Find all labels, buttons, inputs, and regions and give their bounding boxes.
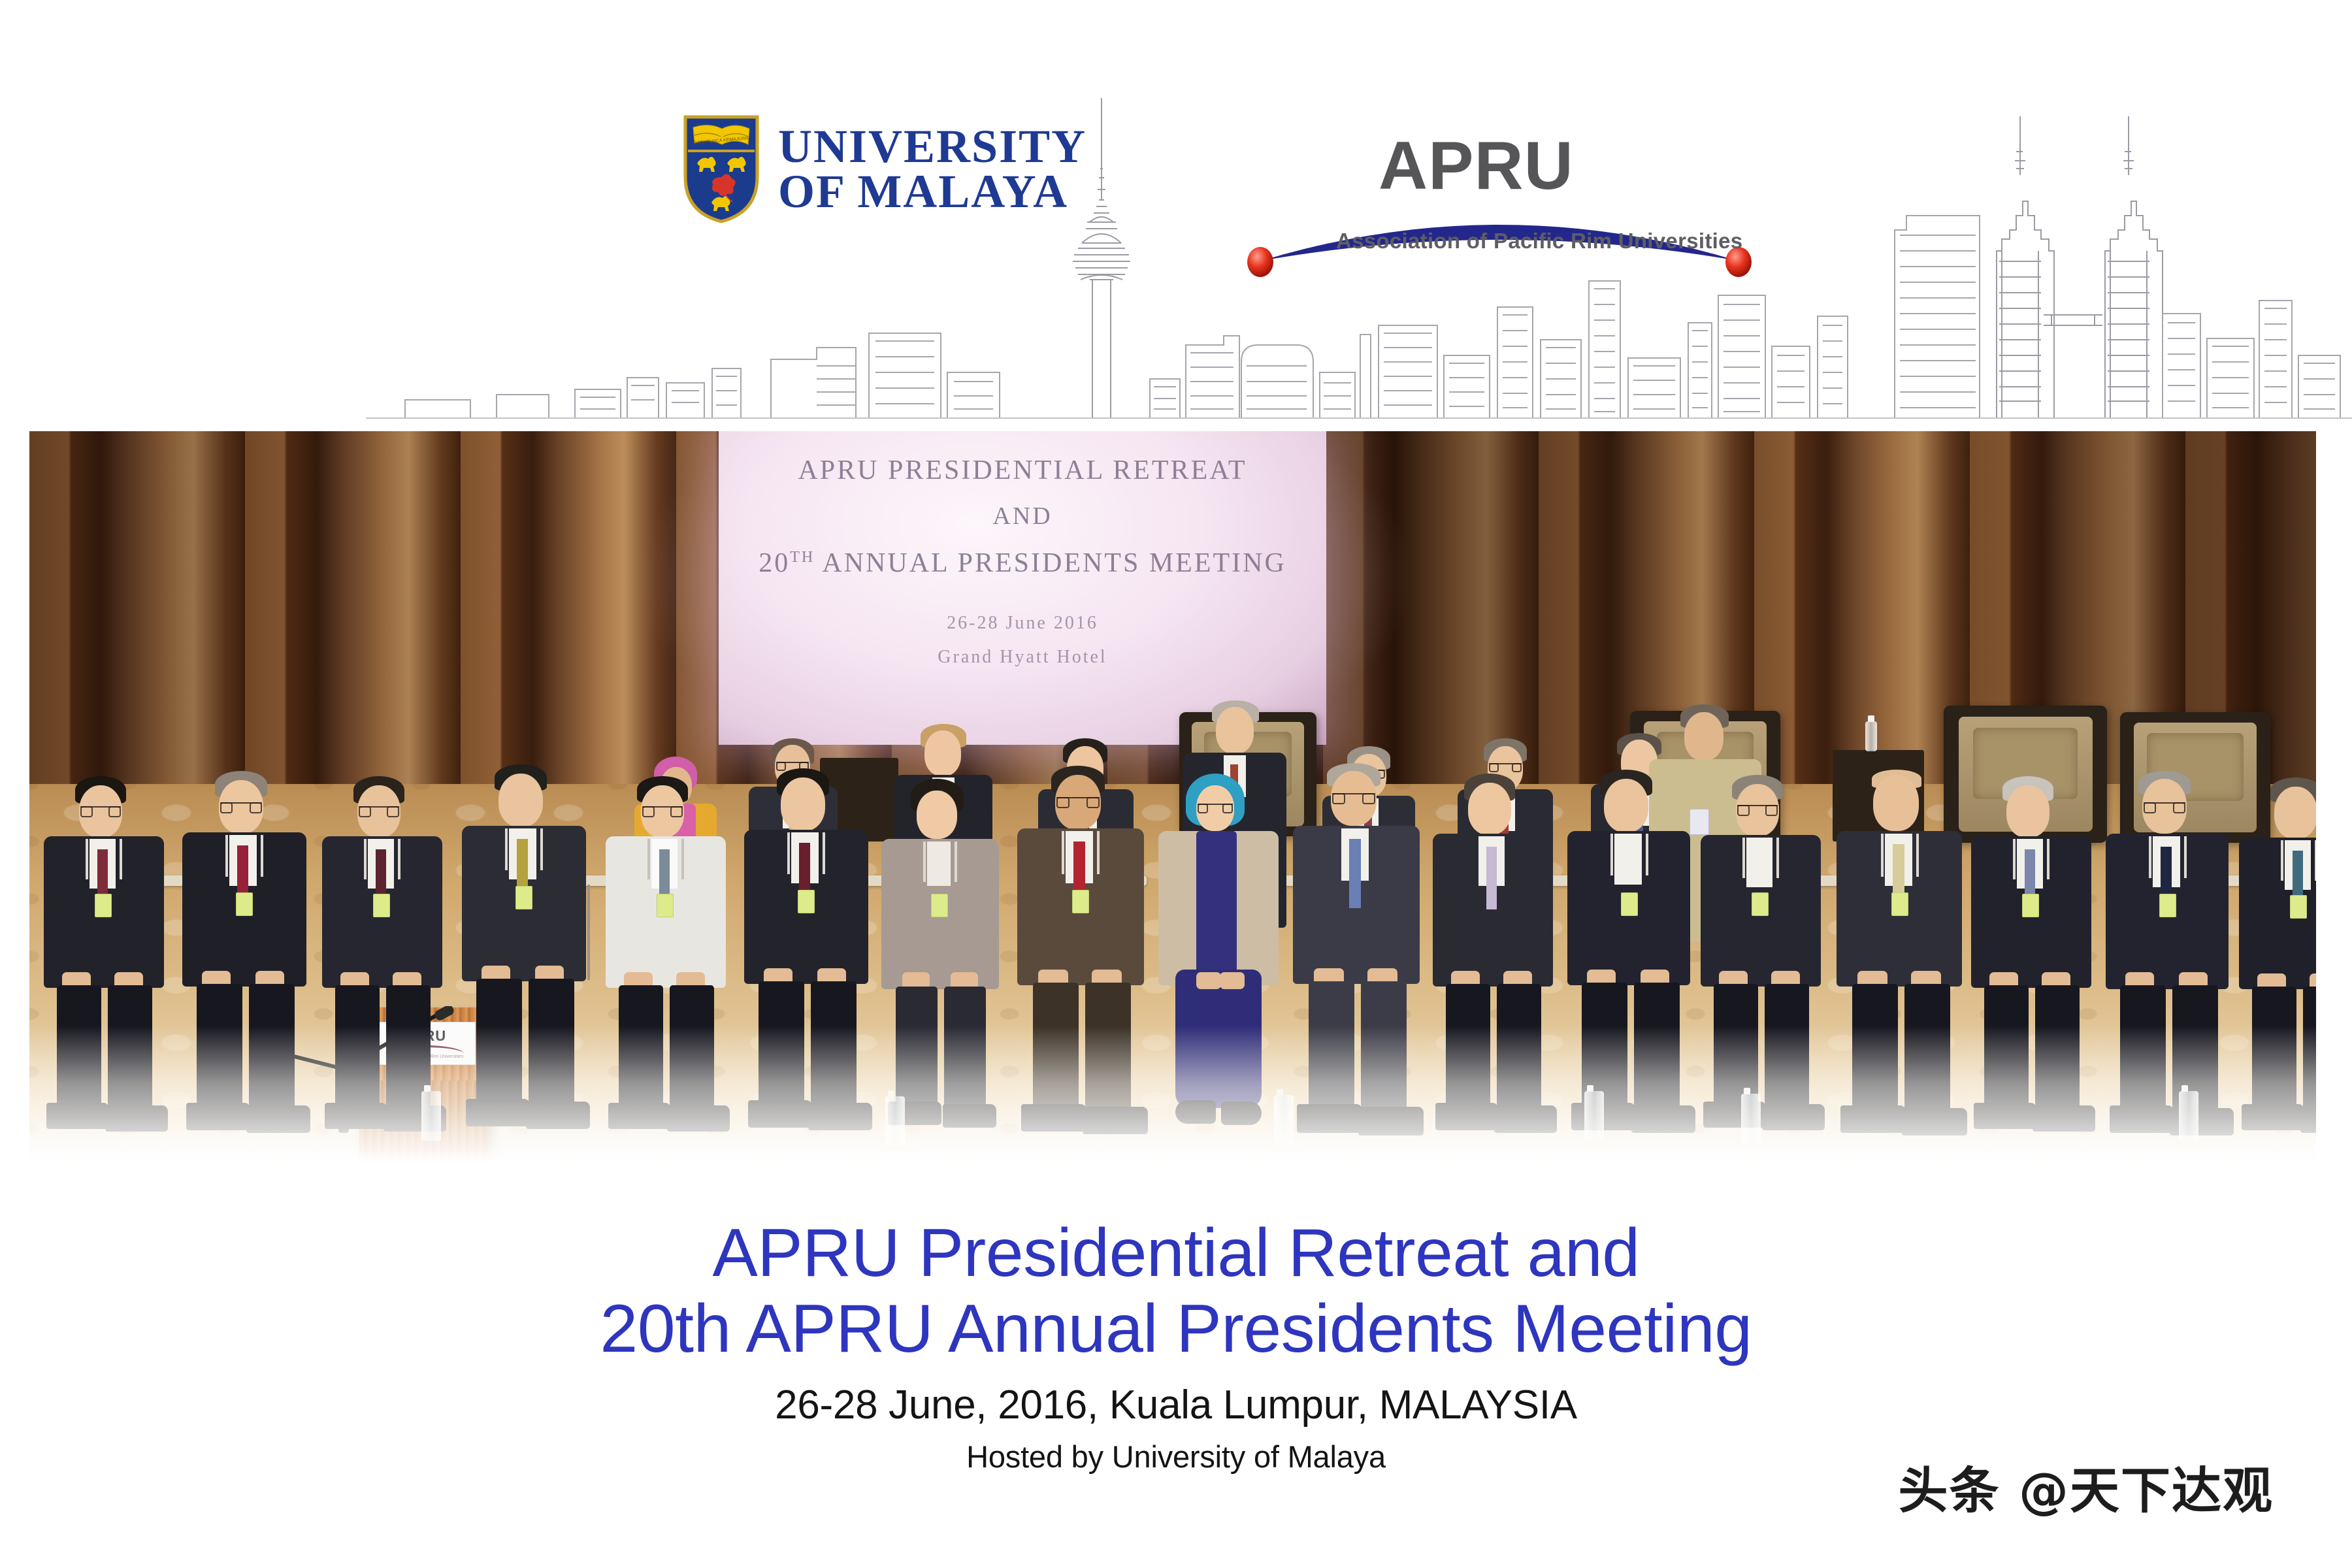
seated-delegate — [461, 764, 589, 1143]
water-bottle — [1584, 1091, 1604, 1141]
seated-delegate — [604, 776, 728, 1142]
seated-delegate — [1292, 763, 1422, 1145]
projection-screen: APRU PRESIDENTIAL RETREAT AND 20TH ANNUA… — [719, 431, 1326, 745]
university-wordmark-line1: UNIVERSITY — [778, 124, 1086, 169]
seated-delegate — [1566, 770, 1693, 1143]
baidu-baike-watermark: Baidu 百科 — [91, 1441, 307, 1512]
seated-delegate — [1835, 768, 1965, 1143]
apru-tagline: Association of Pacific Rim Universities — [1336, 229, 1742, 253]
screen-line-5: Grand Hyatt Hotel — [719, 647, 1326, 668]
seated-delegate — [2104, 771, 2231, 1143]
screen-line-3-num: 20 — [759, 548, 790, 578]
water-bottle — [1741, 1094, 1761, 1143]
seated-delegate — [181, 771, 309, 1143]
name-badge — [1072, 890, 1089, 913]
name-badge — [657, 894, 674, 917]
water-bottle — [2179, 1091, 2198, 1141]
toutiao-watermark: 头条 @天下达观 — [1899, 1450, 2274, 1522]
name-badge — [373, 894, 390, 917]
event-title: APRU Presidential Retreat and 20th APRU … — [0, 1215, 2352, 1367]
name-badge — [1621, 892, 1638, 916]
seated-delegate — [42, 776, 167, 1142]
seated-delegate — [2238, 777, 2316, 1142]
name-badge — [2290, 895, 2307, 919]
screen-line-3-rest: ANNUAL PRESIDENTS MEETING — [815, 548, 1286, 578]
university-wordmark: UNIVERSITY OF MALAYA — [778, 124, 1086, 214]
poster-root: ILMU PUNCA KEMAJUAN UNIVERSITY OF MALAYA — [0, 0, 2352, 1568]
water-bottle — [1274, 1095, 1294, 1145]
name-badge — [2159, 894, 2176, 917]
water-bottle — [885, 1096, 905, 1146]
university-wordmark-line2: OF MALAYA — [778, 169, 1086, 214]
footer-text-block: APRU Presidential Retreat and 20th APRU … — [0, 1215, 2352, 1475]
name-badge — [2022, 894, 2039, 917]
name-badge — [515, 886, 532, 909]
name-badge — [931, 894, 948, 917]
seated-delegate — [1970, 776, 2094, 1142]
seated-delegate — [1156, 774, 1282, 1143]
name-badge — [95, 894, 112, 917]
university-of-malaya-logo: ILMU PUNCA KEMAJUAN UNIVERSITY OF MALAYA — [683, 114, 1086, 224]
university-crest-icon: ILMU PUNCA KEMAJUAN — [683, 114, 760, 224]
seated-delegate — [1699, 775, 1823, 1142]
water-bottle — [421, 1091, 441, 1141]
kuala-lumpur-skyline-illustration — [0, 0, 2352, 431]
name-badge — [1752, 892, 1769, 916]
event-title-line1: APRU Presidential Retreat and — [0, 1215, 2352, 1291]
baidu-baike-watermark-text: Baidu 百科 — [91, 1449, 272, 1504]
event-date-location: 26-28 June, 2016, Kuala Lumpur, MALAYSIA — [0, 1382, 2352, 1428]
screen-line-1: APRU PRESIDENTIAL RETREAT — [719, 455, 1326, 486]
screen-line-4: 26-28 June 2016 — [719, 613, 1326, 634]
name-badge — [798, 890, 815, 913]
seated-delegate — [879, 779, 1003, 1145]
event-title-line2: 20th APRU Annual Presidents Meeting — [0, 1291, 2352, 1367]
screen-line-3: 20TH ANNUAL PRESIDENTS MEETING — [719, 547, 1326, 579]
seated-delegate — [1431, 774, 1556, 1143]
seated-delegate — [1016, 766, 1147, 1145]
name-badge — [236, 892, 253, 916]
apru-logo: APRU Association of Pacific Rim Universi… — [1245, 127, 1754, 278]
water-bottle — [1865, 721, 1877, 751]
header-band: ILMU PUNCA KEMAJUAN UNIVERSITY OF MALAYA — [0, 0, 2352, 431]
seated-delegate — [743, 768, 871, 1143]
name-badge — [1891, 892, 1908, 916]
group-photo: APRU PRESIDENTIAL RETREAT AND 20TH ANNUA… — [29, 431, 2316, 1163]
screen-line-2: AND — [719, 502, 1326, 531]
screen-line-3-sup: TH — [790, 549, 815, 566]
